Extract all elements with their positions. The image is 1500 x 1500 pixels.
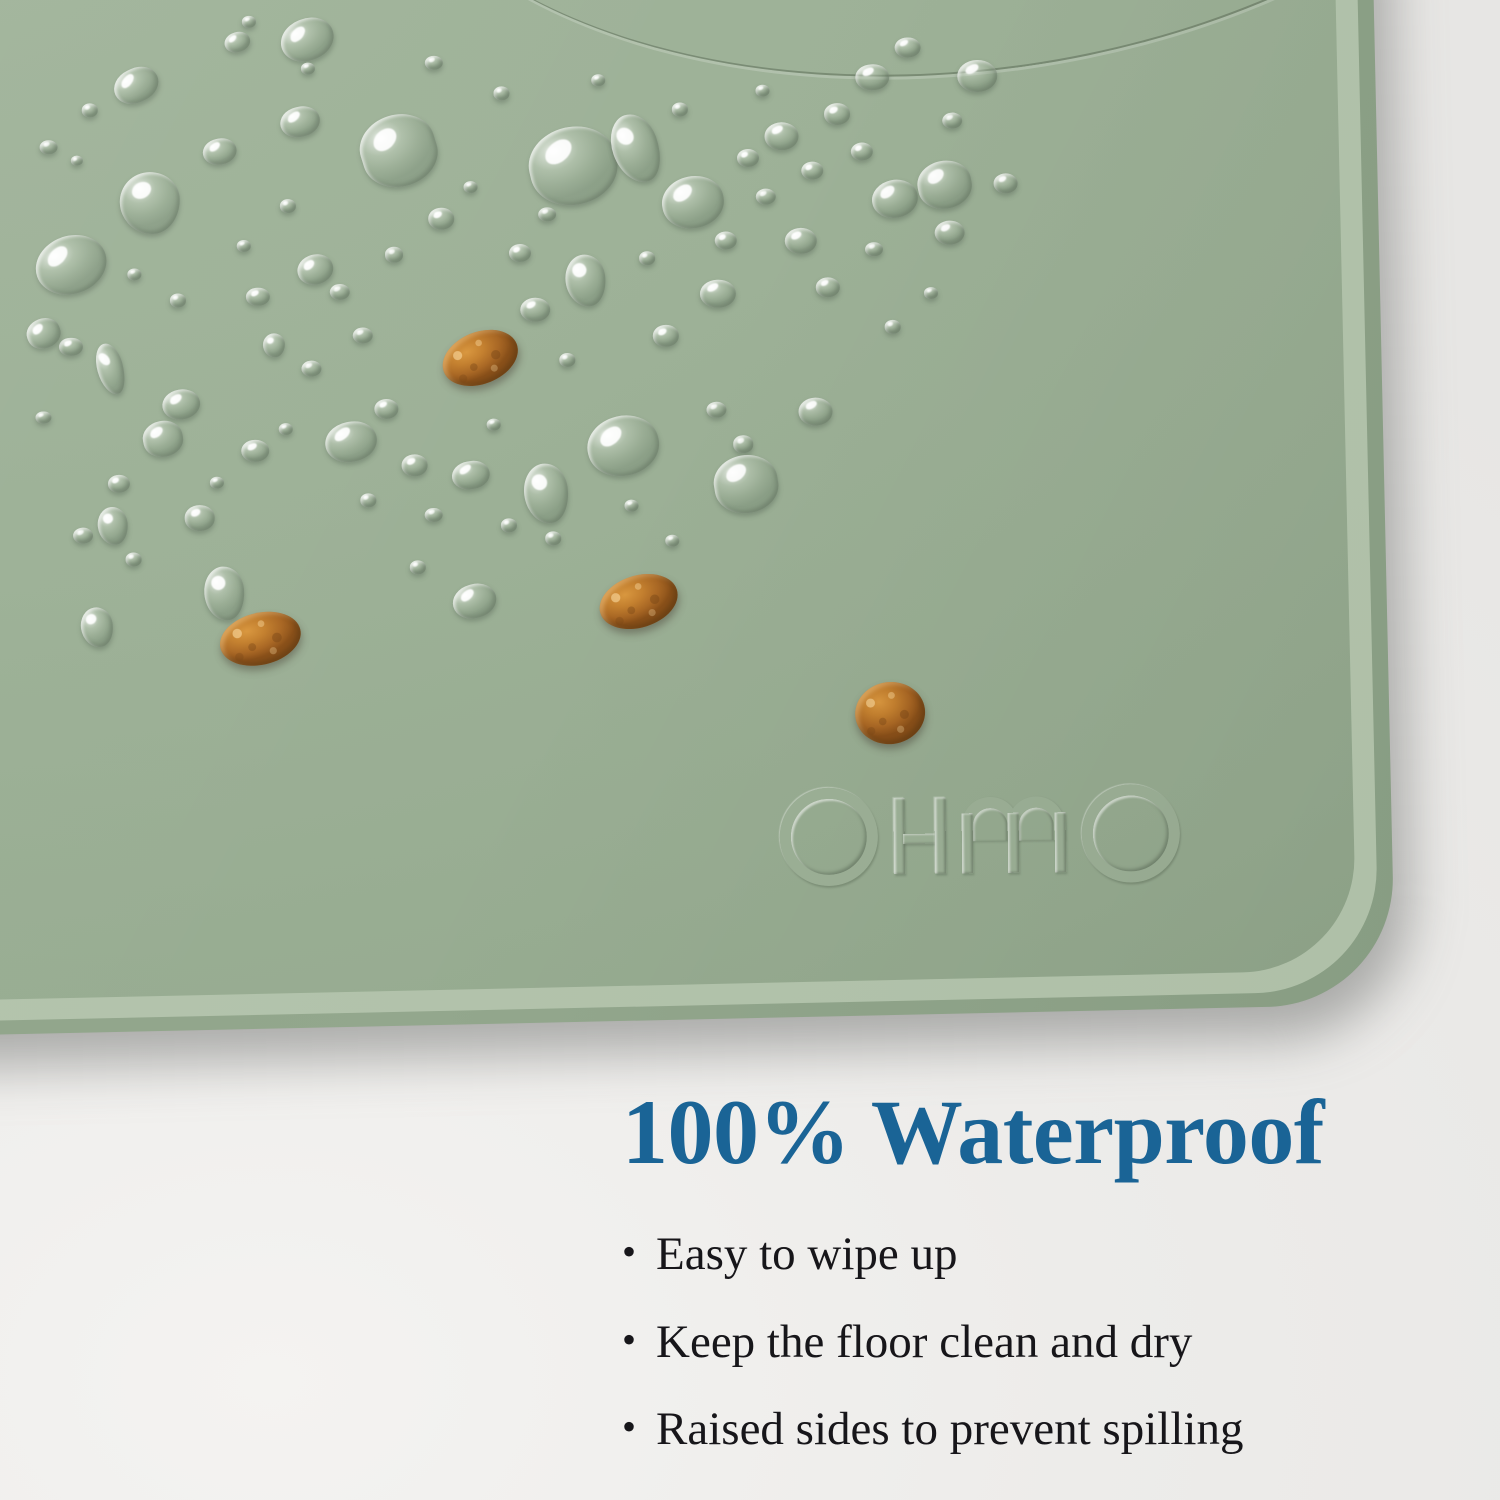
water-droplet bbox=[246, 287, 270, 306]
water-droplet bbox=[91, 340, 130, 397]
water-droplet bbox=[737, 149, 759, 167]
water-droplet bbox=[360, 493, 376, 507]
water-droplet bbox=[119, 171, 180, 234]
logo-letter-m bbox=[961, 796, 1066, 873]
water-droplet bbox=[653, 325, 679, 348]
feature-bullet-item: •Easy to wipe up bbox=[622, 1228, 1452, 1281]
bowl-recess-groove bbox=[299, 0, 1357, 156]
logo-m-stem-1 bbox=[962, 813, 974, 873]
logo-letter-o-right bbox=[1081, 784, 1180, 883]
water-droplet bbox=[710, 450, 782, 518]
ohmo-embossed-logo bbox=[779, 784, 1180, 887]
mat-top-surface bbox=[0, 0, 1357, 1011]
water-droplet bbox=[824, 103, 850, 126]
water-droplet bbox=[39, 140, 57, 154]
kibble-piece bbox=[214, 604, 306, 673]
water-droplet bbox=[127, 268, 141, 280]
water-droplet bbox=[885, 320, 901, 334]
water-droplet bbox=[280, 199, 296, 213]
water-droplet bbox=[449, 579, 500, 623]
water-droplet bbox=[125, 552, 141, 566]
water-droplet bbox=[352, 105, 446, 196]
water-droplet bbox=[263, 333, 286, 357]
water-droplet bbox=[294, 250, 337, 288]
water-droplet bbox=[851, 142, 873, 160]
water-droplet bbox=[764, 122, 799, 151]
water-droplet bbox=[374, 399, 398, 420]
water-droplet bbox=[410, 560, 426, 574]
feature-bullet-text: Keep the floor clean and dry bbox=[656, 1316, 1192, 1369]
water-droplet bbox=[993, 173, 1017, 194]
water-droplet bbox=[401, 454, 427, 477]
bullet-dot-icon: • bbox=[622, 1232, 636, 1272]
water-droplet bbox=[277, 103, 323, 141]
logo-letter-o-left bbox=[779, 787, 878, 886]
water-droplet bbox=[639, 251, 655, 265]
bullet-dot-icon: • bbox=[622, 1407, 636, 1447]
water-droplet bbox=[353, 327, 373, 343]
water-droplet bbox=[425, 508, 443, 522]
water-droplet bbox=[672, 102, 688, 116]
water-droplet bbox=[425, 56, 443, 70]
water-droplet bbox=[160, 387, 202, 423]
water-droplet bbox=[733, 435, 753, 453]
water-droplet bbox=[301, 360, 321, 376]
water-droplet bbox=[222, 29, 253, 55]
water-droplet bbox=[322, 417, 381, 466]
water-droplet bbox=[202, 565, 247, 622]
water-droplet bbox=[591, 74, 605, 86]
water-droplet bbox=[170, 293, 186, 307]
water-droplet bbox=[108, 60, 164, 110]
logo-m-stem-2 bbox=[1008, 813, 1020, 873]
water-droplet bbox=[22, 313, 65, 353]
water-droplet bbox=[602, 108, 669, 189]
kibble-piece bbox=[593, 565, 685, 638]
water-droplet bbox=[73, 527, 93, 543]
water-droplet bbox=[657, 171, 728, 234]
water-droplet bbox=[279, 423, 293, 435]
water-droplet bbox=[493, 86, 509, 100]
water-droplet bbox=[487, 418, 501, 430]
logo-letter-h-crossbar bbox=[903, 834, 937, 844]
water-droplet bbox=[624, 500, 638, 512]
water-droplet bbox=[520, 297, 551, 322]
feature-bullet-text: Easy to wipe up bbox=[656, 1228, 958, 1281]
water-droplet bbox=[140, 417, 186, 460]
water-droplet bbox=[428, 207, 454, 230]
water-droplet bbox=[538, 207, 556, 221]
water-droplet bbox=[785, 228, 818, 255]
water-droplet bbox=[865, 242, 883, 256]
water-droplet bbox=[756, 188, 776, 204]
water-droplet bbox=[82, 103, 98, 117]
water-droplet bbox=[509, 244, 531, 262]
water-droplet bbox=[59, 338, 83, 357]
water-droplet bbox=[201, 135, 239, 167]
water-droplet bbox=[924, 287, 938, 299]
water-droplet bbox=[242, 16, 256, 28]
water-droplet bbox=[521, 118, 625, 214]
water-droplet bbox=[934, 220, 965, 245]
water-droplet bbox=[869, 176, 922, 222]
water-droplet bbox=[706, 402, 726, 418]
logo-m-stem-3 bbox=[1055, 812, 1067, 872]
water-droplet bbox=[798, 397, 833, 426]
bullet-dot-icon: • bbox=[622, 1320, 636, 1360]
kibble-piece bbox=[851, 678, 928, 748]
water-droplet bbox=[521, 461, 572, 526]
water-droplet bbox=[501, 518, 517, 532]
product-image-canvas: 100% Waterproof •Easy to wipe up•Keep th… bbox=[0, 0, 1500, 1500]
water-droplet bbox=[71, 156, 83, 166]
feature-bullet-list: •Easy to wipe up•Keep the floor clean an… bbox=[622, 1228, 1452, 1456]
feature-bullet-text: Raised sides to prevent spilling bbox=[656, 1403, 1243, 1456]
water-droplet bbox=[665, 535, 679, 547]
water-droplet bbox=[210, 477, 224, 489]
feature-bullet-item: •Keep the floor clean and dry bbox=[622, 1316, 1452, 1369]
water-droplet bbox=[816, 277, 840, 298]
water-droplet bbox=[755, 85, 769, 97]
water-droplet bbox=[545, 531, 561, 545]
water-droplet bbox=[78, 605, 116, 650]
water-droplet bbox=[241, 440, 269, 463]
logo-letter-h bbox=[893, 798, 946, 875]
marketing-copy-block: 100% Waterproof •Easy to wipe up•Keep th… bbox=[622, 1086, 1452, 1456]
headline-waterproof: 100% Waterproof bbox=[622, 1086, 1452, 1178]
water-droplet bbox=[108, 475, 130, 493]
water-droplet bbox=[700, 279, 737, 308]
water-droplet bbox=[942, 112, 962, 128]
water-droplet bbox=[801, 161, 823, 179]
feature-bullet-item: •Raised sides to prevent spilling bbox=[622, 1403, 1452, 1456]
water-droplet bbox=[28, 226, 115, 304]
water-droplet bbox=[237, 240, 251, 252]
water-droplet bbox=[35, 411, 51, 423]
water-droplet bbox=[330, 284, 350, 300]
silicone-pet-mat bbox=[0, 0, 1396, 1051]
water-droplet bbox=[463, 181, 477, 193]
water-droplet bbox=[385, 247, 403, 263]
water-droplet bbox=[184, 505, 215, 532]
water-droplet bbox=[450, 458, 492, 492]
water-droplet bbox=[559, 353, 575, 367]
water-droplet bbox=[275, 10, 341, 69]
water-droplet bbox=[96, 505, 131, 546]
water-droplet bbox=[715, 231, 737, 249]
water-droplet bbox=[913, 156, 975, 214]
kibble-piece bbox=[435, 320, 527, 397]
water-droplet bbox=[301, 62, 315, 74]
water-droplet bbox=[581, 408, 665, 483]
water-droplet bbox=[562, 252, 608, 309]
